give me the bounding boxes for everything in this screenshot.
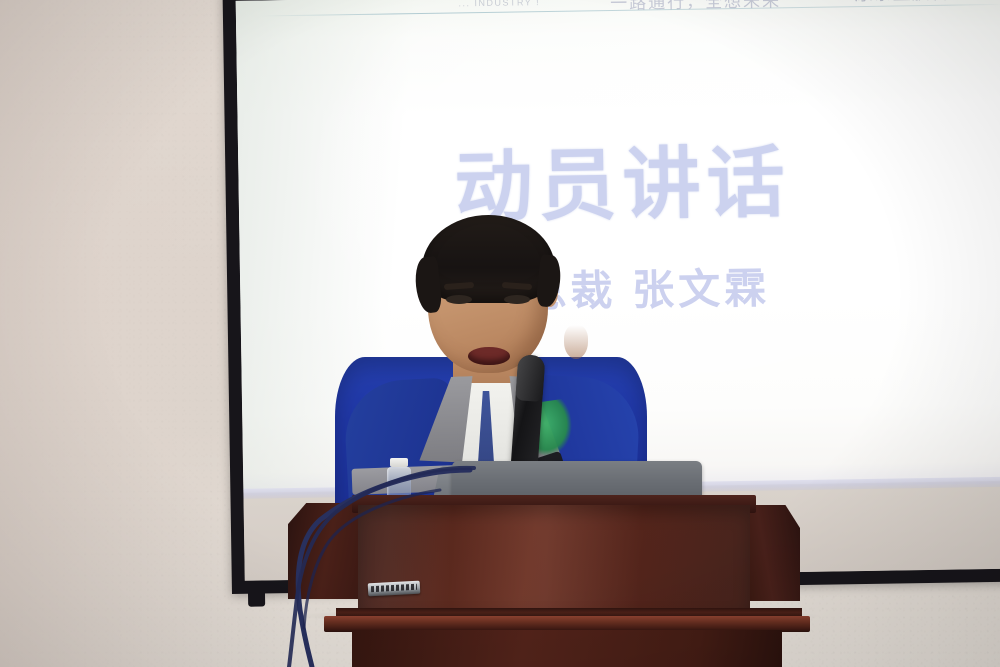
bottle-cap <box>390 458 408 467</box>
hair <box>422 215 555 303</box>
eye-right <box>504 295 530 304</box>
slide-header-chinese: 一路通行，全想未来 <box>610 0 781 13</box>
slide-header-english: ... INDUSTRY ! <box>458 0 540 8</box>
podium-base <box>352 630 782 667</box>
speaker-person <box>340 205 640 505</box>
mouth-open-speaking <box>468 347 510 365</box>
podium-front-panel <box>358 505 750 610</box>
podium-side-right <box>744 505 800 601</box>
podium-nameplate-logo-icon <box>371 584 417 592</box>
presentation-photo: ... INDUSTRY ! 一路通行，全想未来 康泰塑胶科技集团有 动员讲话 … <box>0 0 1000 667</box>
nose <box>564 325 588 359</box>
eye-left <box>446 295 472 304</box>
podium-side-left <box>288 503 364 599</box>
screen-frame-foot <box>248 592 265 606</box>
microphone-head <box>515 354 545 402</box>
podium-nameplate <box>368 581 421 597</box>
